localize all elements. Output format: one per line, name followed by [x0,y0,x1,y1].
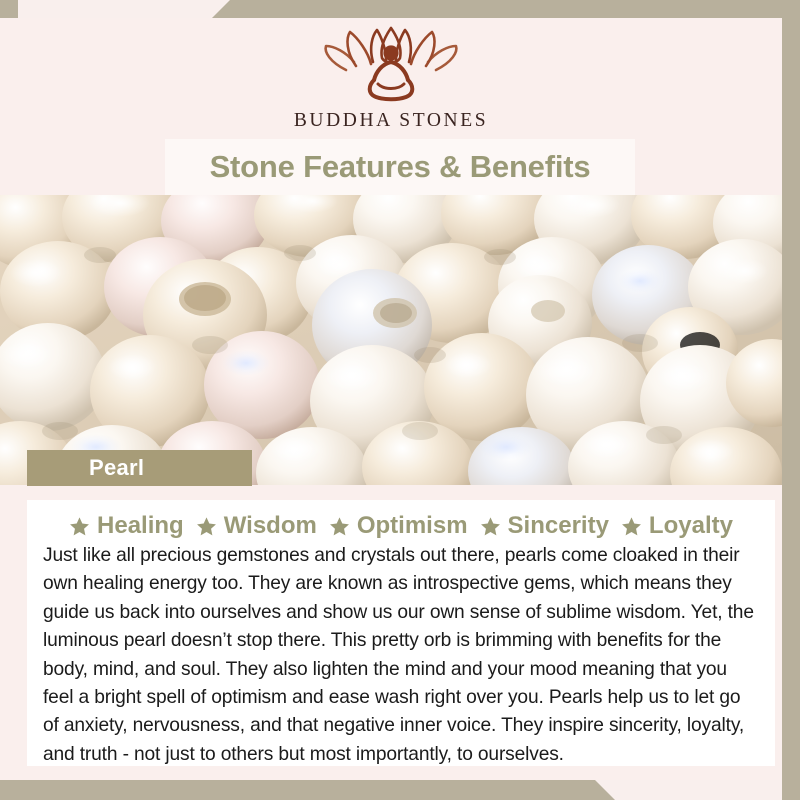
stone-name-plate: Pearl [27,450,252,486]
feature-item-healing: Healing [69,512,184,540]
feature-item-loyalty: Loyalty [621,512,733,540]
star-icon [621,516,642,537]
brand-name: BUDDHA STONES [294,110,488,132]
feature-label: Optimism [357,512,468,540]
feature-item-wisdom: Wisdom [196,512,317,540]
page-title: Stone Features & Benefits [210,149,591,185]
star-icon [196,516,217,537]
feature-label: Loyalty [649,512,733,540]
feature-item-sincerity: Sincerity [480,512,609,540]
infographic-card: BUDDHA STONES Stone Features & Benefits [0,0,800,800]
stone-name: Pearl [89,455,144,481]
feature-item-optimism: Optimism [329,512,468,540]
title-banner: Stone Features & Benefits [165,139,635,195]
frame-accent-top-right [0,0,800,18]
content-card: Healing Wisdom Optimism Sincerity [27,500,775,766]
frame-accent-right [782,0,800,800]
stone-photo [0,195,782,485]
star-icon [69,516,90,537]
feature-label: Healing [97,512,184,540]
frame-accent-bottom-left [0,780,800,800]
stone-description: Just like all precious gemstones and cry… [39,542,763,769]
feature-label: Sincerity [508,512,609,540]
lotus-meditation-logo-icon [316,22,466,106]
features-list: Healing Wisdom Optimism Sincerity [39,512,763,540]
star-icon [480,516,501,537]
star-icon [329,516,350,537]
brand-logo-block: BUDDHA STONES [0,22,782,132]
feature-label: Wisdom [224,512,317,540]
